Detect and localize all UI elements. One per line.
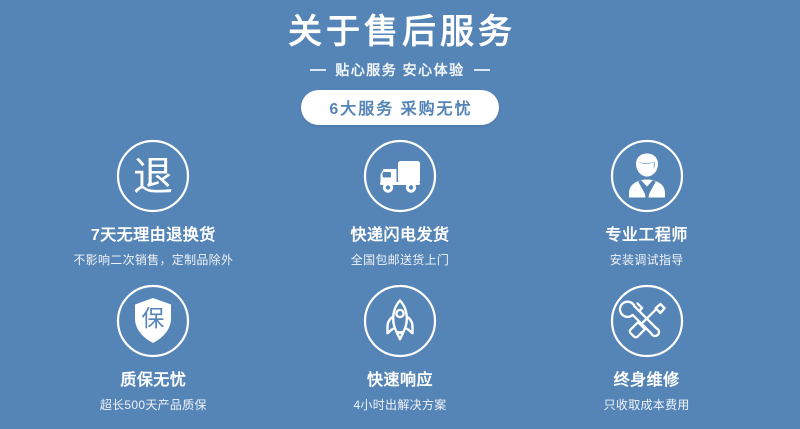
dash-right-icon [474,69,490,71]
shield-guarantee-icon: 保 [116,284,190,358]
rocket-icon [363,284,437,358]
dash-left-icon [310,69,326,71]
service-item-repair[interactable]: 终身维修 只收取成本费用 [523,284,770,429]
service-count-badge: 6大服务 采购无忧 [301,90,498,125]
wrench-screwdriver-icon [610,284,684,358]
service-title: 7天无理由退换货 [91,221,216,245]
subtitle-row: 贴心服务 安心体验 [0,60,800,80]
delivery-truck-icon [363,139,437,213]
svg-text:退: 退 [133,154,173,200]
service-subtitle: 4小时出解决方案 [353,396,446,413]
page-title: 关于售后服务 [0,10,800,54]
badge-container: 6大服务 采购无忧 [0,90,800,125]
service-title: 快速响应 [367,366,433,390]
service-item-warranty[interactable]: 保 质保无忧 超长500天产品质保 [30,284,277,429]
service-subtitle: 超长500天产品质保 [100,396,207,413]
service-title: 质保无忧 [120,366,186,390]
after-sales-service-banner: 关于售后服务 贴心服务 安心体验 6大服务 采购无忧 退 7天无理由退换货 不影… [0,0,800,426]
service-item-engineer[interactable]: 专业工程师 安装调试指导 [523,139,770,284]
service-item-shipping[interactable]: 快递闪电发货 全国包邮送货上门 [277,139,524,284]
svg-text:保: 保 [142,306,165,332]
service-subtitle: 只收取成本费用 [604,396,690,413]
service-subtitle: 不影响二次销售，定制品除外 [73,251,233,268]
service-title: 快递闪电发货 [350,221,449,245]
return-circle-icon: 退 [116,139,190,213]
banner-header: 关于售后服务 贴心服务 安心体验 6大服务 采购无忧 [0,0,800,125]
service-item-return[interactable]: 退 7天无理由退换货 不影响二次销售，定制品除外 [30,139,277,284]
service-grid: 退 7天无理由退换货 不影响二次销售，定制品除外 [0,139,800,429]
service-item-response[interactable]: 快速响应 4小时出解决方案 [277,284,524,429]
service-subtitle: 安装调试指导 [610,251,684,268]
service-title: 专业工程师 [605,221,688,245]
engineer-person-icon [610,139,684,213]
service-title: 终身维修 [614,366,680,390]
service-subtitle: 全国包邮送货上门 [351,251,449,268]
page-subtitle: 贴心服务 安心体验 [335,60,464,80]
